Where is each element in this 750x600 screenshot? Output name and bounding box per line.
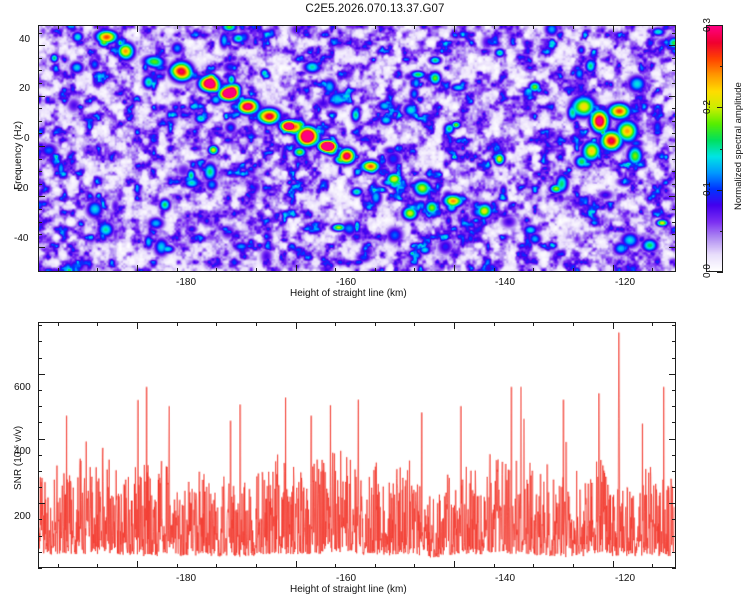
spectrogram-xtick-mark-top <box>58 25 59 29</box>
spectrogram-xtick-2: -140 <box>495 277 515 288</box>
colorbar-tick-mark <box>717 25 723 26</box>
figure-title: C2E5.2026.070.13.37.G07 <box>0 3 750 15</box>
snr-xtick-mark <box>494 564 495 568</box>
snr-xtick-mark-top <box>494 322 495 326</box>
snr-ytick-mark <box>38 422 42 423</box>
spectrogram-ytick-0: -40 <box>14 233 28 244</box>
snr-ytick-mark <box>38 519 42 520</box>
spectrogram-xtick-mark-top <box>256 25 257 29</box>
snr-xtick-mark <box>296 561 297 568</box>
spectrogram-ytick-mark-right <box>672 58 676 59</box>
snr-ytick-mark-right <box>672 519 676 520</box>
spectrogram-ytick-mark <box>38 121 42 122</box>
spectrogram-ytick-mark-right <box>669 196 676 197</box>
snr-xtick-mark-top <box>97 322 98 326</box>
snr-ytick-mark <box>38 487 42 488</box>
spectrogram-ytick-mark <box>38 70 42 71</box>
spectrogram-xtick-mark <box>494 268 495 272</box>
spectrogram-xtick-mark-top <box>494 25 495 29</box>
spectrogram-ytick-mark-right <box>672 133 676 134</box>
spectrogram-ytick-mark <box>38 196 45 197</box>
snr-ytick-mark-right <box>672 325 676 326</box>
colorbar-tick-1: 0.1 <box>702 182 713 196</box>
spectrogram-ytick-4: 40 <box>19 34 30 45</box>
spectrogram-xtick-mark <box>97 268 98 272</box>
snr-xtick-mark-top <box>613 322 614 329</box>
spectrogram-xtick-mark-top <box>177 25 178 29</box>
snr-ytick-mark <box>38 390 42 391</box>
spectrogram-xtick-mark <box>652 268 653 272</box>
spectrogram-ytick-3: 20 <box>19 83 30 94</box>
snr-ytick-mark <box>38 552 42 553</box>
snr-xtick-mark-top <box>652 322 653 326</box>
colorbar-tick-3: 0.3 <box>702 18 713 32</box>
snr-xtick-0: -180 <box>176 573 196 584</box>
spectrogram-xtick-mark-top <box>296 25 297 32</box>
snr-ytick-mark <box>38 536 42 537</box>
snr-xtick-mark-top <box>573 322 574 326</box>
snr-ytick-mark-right <box>672 471 676 472</box>
snr-xtick-mark <box>454 561 455 568</box>
spectrogram-xtick-mark <box>533 268 534 272</box>
snr-panel <box>38 322 676 568</box>
spectrogram-ytick-mark-right <box>672 171 676 172</box>
colorbar-tick-mark <box>720 149 723 150</box>
spectrogram-xtick-mark <box>177 268 178 272</box>
snr-ytick-mark <box>38 471 42 472</box>
spectrogram-ytick-mark-right <box>672 70 676 71</box>
spectrogram-xtick-mark-top <box>375 25 376 29</box>
colorbar-tick-mark <box>717 107 723 108</box>
snr-ytick-mark-right <box>672 341 676 342</box>
snr-ytick-mark-right <box>669 374 676 375</box>
snr-xtick-2: -140 <box>495 573 515 584</box>
spectrogram-ytick-mark <box>38 222 42 223</box>
spectrogram-xtick-mark <box>375 268 376 272</box>
spectrogram-xtick-mark <box>58 268 59 272</box>
snr-xtick-1: -160 <box>336 573 356 584</box>
snr-ytick-mark <box>38 455 42 456</box>
spectrogram-ylabel: Frequency (Hz) <box>13 121 24 190</box>
snr-xtick-mark-top <box>296 322 297 329</box>
snr-xtick-mark-top <box>414 322 415 326</box>
snr-xtick-mark <box>652 564 653 568</box>
spectrogram-ytick-mark-right <box>672 108 676 109</box>
spectrogram-ytick-mark <box>38 96 45 97</box>
colorbar-tick-mark <box>720 66 723 67</box>
snr-ytick-mark-right <box>672 552 676 553</box>
spectrogram-ytick-mark-right <box>669 146 676 147</box>
spectrogram-ytick-mark <box>38 171 42 172</box>
spectrogram-ytick-mark <box>38 83 42 84</box>
snr-ytick-0: 200 <box>14 511 31 522</box>
spectrogram-xtick-mark-top <box>454 25 455 32</box>
spectrogram-xtick-mark-top <box>652 25 653 29</box>
spectrogram-xtick-mark <box>414 268 415 272</box>
spectrogram-ytick-mark <box>38 184 42 185</box>
colorbar-tick-2: 0.2 <box>702 100 713 114</box>
snr-xtick-mark-top <box>177 322 178 326</box>
snr-xtick-3: -120 <box>615 573 635 584</box>
spectrogram-xtick-mark <box>137 265 138 272</box>
spectrogram-xtick-mark <box>613 265 614 272</box>
spectrogram-panel <box>38 25 676 272</box>
spectrogram-ytick-mark <box>38 33 42 34</box>
spectrogram-xtick-mark-top <box>216 25 217 29</box>
spectrogram-xlabel: Height of straight line (km) <box>290 288 407 299</box>
snr-ytick-2: 600 <box>14 382 31 393</box>
snr-xtick-mark <box>256 564 257 568</box>
spectrogram-ytick-mark-right <box>672 33 676 34</box>
spectrogram-ytick-2: 0 <box>24 133 30 144</box>
spectrogram-xtick-mark-top <box>97 25 98 29</box>
spectrogram-ytick-mark-right <box>669 45 676 46</box>
spectrogram-xtick-mark-top <box>335 25 336 29</box>
snr-xtick-mark <box>177 564 178 568</box>
spectrogram-ytick-mark-right <box>672 121 676 122</box>
snr-xtick-mark <box>613 561 614 568</box>
colorbar-tick-mark <box>720 231 723 232</box>
snr-xtick-mark-top <box>533 322 534 326</box>
snr-xtick-mark <box>216 564 217 568</box>
snr-xtick-mark <box>573 564 574 568</box>
spectrogram-xtick-mark <box>296 265 297 272</box>
spectrogram-xtick-mark-top <box>414 25 415 29</box>
spectrogram-ytick-mark <box>38 58 42 59</box>
snr-ytick-mark <box>38 341 42 342</box>
snr-ytick-mark <box>38 568 42 569</box>
snr-ytick-mark <box>38 439 45 440</box>
snr-xtick-mark-top <box>335 322 336 326</box>
snr-ytick-mark-right <box>672 487 676 488</box>
snr-ytick-mark <box>38 374 45 375</box>
snr-ytick-mark <box>38 503 45 504</box>
colorbar-tick-0: 0.0 <box>702 264 713 278</box>
spectrogram-ytick-mark-right <box>669 96 676 97</box>
snr-ytick-mark-right <box>669 503 676 504</box>
snr-trace <box>39 323 675 567</box>
spectrogram-xtick-mark-top <box>137 25 138 32</box>
spectrogram-xtick-3: -120 <box>615 277 635 288</box>
snr-xtick-mark <box>533 564 534 568</box>
snr-ytick-mark <box>38 406 42 407</box>
snr-xtick-mark-top <box>454 322 455 329</box>
snr-xtick-mark-top <box>58 322 59 326</box>
spectrogram-ytick-mark <box>38 159 42 160</box>
spectrogram-ytick-mark-right <box>672 222 676 223</box>
snr-xtick-mark <box>137 561 138 568</box>
snr-ytick-mark-right <box>672 406 676 407</box>
spectrogram-ytick-mark-right <box>672 234 676 235</box>
snr-xtick-mark <box>375 564 376 568</box>
snr-xtick-mark-top <box>256 322 257 326</box>
spectrogram-ytick-mark <box>38 133 42 134</box>
spectrogram-xtick-mark <box>256 268 257 272</box>
snr-xlabel: Height of straight line (km) <box>290 584 407 595</box>
snr-ytick-mark-right <box>672 358 676 359</box>
snr-ytick-mark <box>38 325 42 326</box>
snr-ytick-mark-right <box>672 536 676 537</box>
spectrogram-ytick-mark-right <box>669 247 676 248</box>
snr-xtick-mark-top <box>137 322 138 329</box>
snr-ylabel: SNR (10 ⁶ v/v) <box>13 426 24 490</box>
spectrogram-xtick-mark-top <box>613 25 614 32</box>
spectrogram-xtick-mark-top <box>533 25 534 29</box>
snr-xtick-mark <box>58 564 59 568</box>
spectrogram-ytick-mark-right <box>672 184 676 185</box>
spectrogram-ytick-mark <box>38 209 42 210</box>
spectrogram-xtick-mark <box>335 268 336 272</box>
spectrogram-ytick-mark-right <box>672 209 676 210</box>
snr-xtick-mark <box>335 564 336 568</box>
spectrogram-ytick-mark <box>38 234 42 235</box>
spectrogram-ytick-mark <box>38 247 45 248</box>
snr-ytick-mark-right <box>672 455 676 456</box>
spectrogram-image <box>39 26 675 271</box>
spectrogram-ytick-mark <box>38 45 45 46</box>
snr-xtick-mark <box>97 564 98 568</box>
snr-ytick-mark-right <box>669 439 676 440</box>
colorbar-title: Normalized spectral amplitude <box>733 82 744 210</box>
spectrogram-ytick-mark-right <box>672 83 676 84</box>
snr-xtick-mark <box>414 564 415 568</box>
colorbar-tick-mark <box>717 272 723 273</box>
snr-ytick-mark-right <box>672 390 676 391</box>
snr-ytick-mark <box>38 358 42 359</box>
spectrogram-ytick-mark <box>38 108 42 109</box>
snr-xtick-mark-top <box>216 322 217 326</box>
snr-ytick-mark-right <box>672 568 676 569</box>
spectrogram-ytick-mark <box>38 146 45 147</box>
spectrogram-xtick-mark <box>216 268 217 272</box>
snr-ytick-mark-right <box>672 422 676 423</box>
spectrogram-xtick-mark-top <box>573 25 574 29</box>
spectrogram-ytick-mark-right <box>672 159 676 160</box>
spectrogram-xtick-mark <box>573 268 574 272</box>
snr-xtick-mark-top <box>375 322 376 326</box>
colorbar-tick-mark <box>717 190 723 191</box>
spectrogram-xtick-mark <box>454 265 455 272</box>
figure-root: C2E5.2026.070.13.37.G07 -180 -160 -140 -… <box>0 0 750 600</box>
spectrogram-xtick-0: -180 <box>176 277 196 288</box>
spectrogram-xtick-1: -160 <box>336 277 356 288</box>
